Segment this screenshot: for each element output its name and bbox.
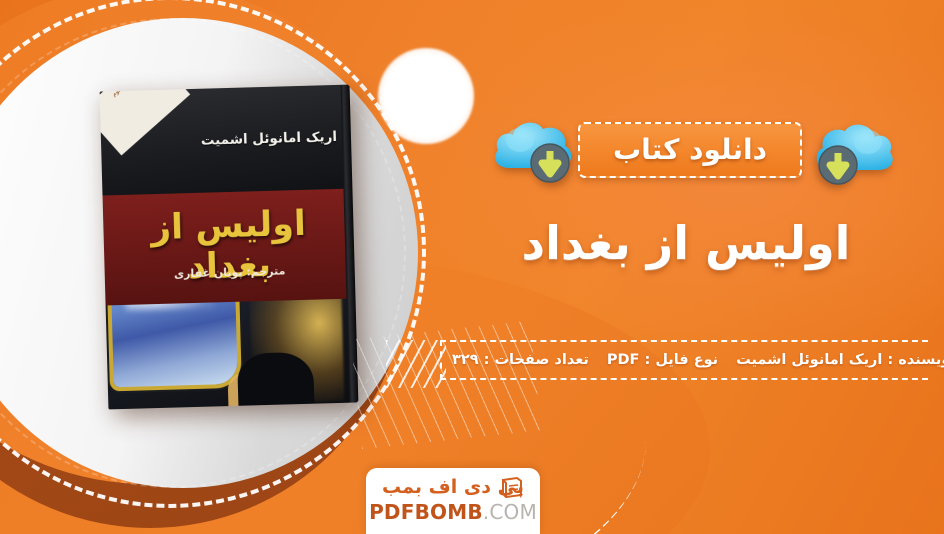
- book-cover-face: چاپ سوم اریک امانوئل اشمیت اولیس از بغدا…: [100, 85, 359, 410]
- site-logo-card[interactable]: پی دی اف بمب PDFBOMB.COM: [366, 468, 540, 534]
- book-metadata-bar: نویسنده : اریک امانوئل اشمیت نوع فایل : …: [440, 340, 928, 380]
- site-logo-tld: .COM: [483, 500, 537, 524]
- download-book-label: دانلود کتاب: [613, 133, 767, 166]
- site-logo-en-text: PDFBOMB.COM: [366, 500, 540, 524]
- photo-silhouette-figure: [237, 352, 315, 410]
- photo-train-window: [110, 298, 238, 387]
- cloud-download-icon: [812, 118, 898, 188]
- book-title-heading: اولیس از بغداد: [430, 216, 942, 270]
- diagonal-stripes-decoration: [386, 340, 446, 388]
- metadata-author: نویسنده : اریک امانوئل اشمیت: [736, 352, 944, 368]
- metadata-page-count: تعداد صفحات : ۳۲۹: [452, 352, 589, 368]
- site-logo-name: PDFBOMB: [369, 500, 483, 524]
- promo-banner: چاپ سوم اریک امانوئل اشمیت اولیس از بغدا…: [0, 0, 944, 534]
- book-cover: چاپ سوم اریک امانوئل اشمیت اولیس از بغدا…: [100, 85, 359, 410]
- right-content-column: دانلود کتاب: [430, 0, 944, 534]
- cloud-download-icon: [490, 116, 576, 186]
- book-bomb-icon: [500, 476, 524, 498]
- metadata-file-type: نوع فایل : PDF: [607, 352, 718, 368]
- download-button-group: دانلود کتاب: [490, 108, 890, 204]
- download-book-button[interactable]: دانلود کتاب: [578, 122, 802, 178]
- book-cover-photo: [106, 298, 359, 409]
